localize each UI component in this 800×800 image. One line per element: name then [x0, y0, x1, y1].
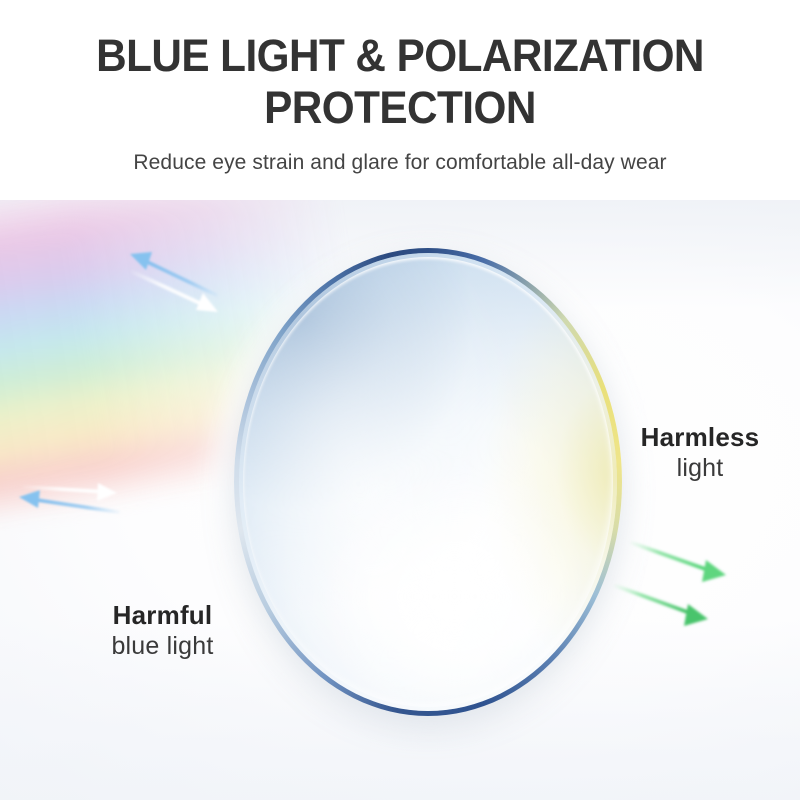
green-transmit-arrow-bottom	[616, 586, 708, 626]
label-harmless-light: Harmless light	[600, 422, 800, 483]
page-title: BLUE LIGHT & POLARIZATION PROTECTION	[24, 30, 776, 134]
label-harmful-blue-light: Harmful blue light	[55, 600, 270, 661]
green-transmit-arrow-top	[632, 543, 726, 582]
product-feature-poster: BLUE LIGHT & POLARIZATION PROTECTION Red…	[0, 0, 800, 800]
illustration-stage: Harmless light Harmful blue light	[0, 200, 800, 800]
blue-reflect-arrow-top	[130, 252, 216, 295]
label-harmless-strong: Harmless	[600, 422, 800, 452]
header-banner: BLUE LIGHT & POLARIZATION PROTECTION Red…	[0, 0, 800, 200]
light-ray-arrows	[0, 200, 800, 800]
label-harmful-light: blue light	[55, 632, 270, 661]
white-incoming-arrow-top	[133, 272, 218, 312]
label-harmful-strong: Harmful	[55, 600, 270, 630]
label-harmless-light: light	[600, 454, 800, 483]
page-subtitle: Reduce eye strain and glare for comforta…	[0, 134, 800, 176]
